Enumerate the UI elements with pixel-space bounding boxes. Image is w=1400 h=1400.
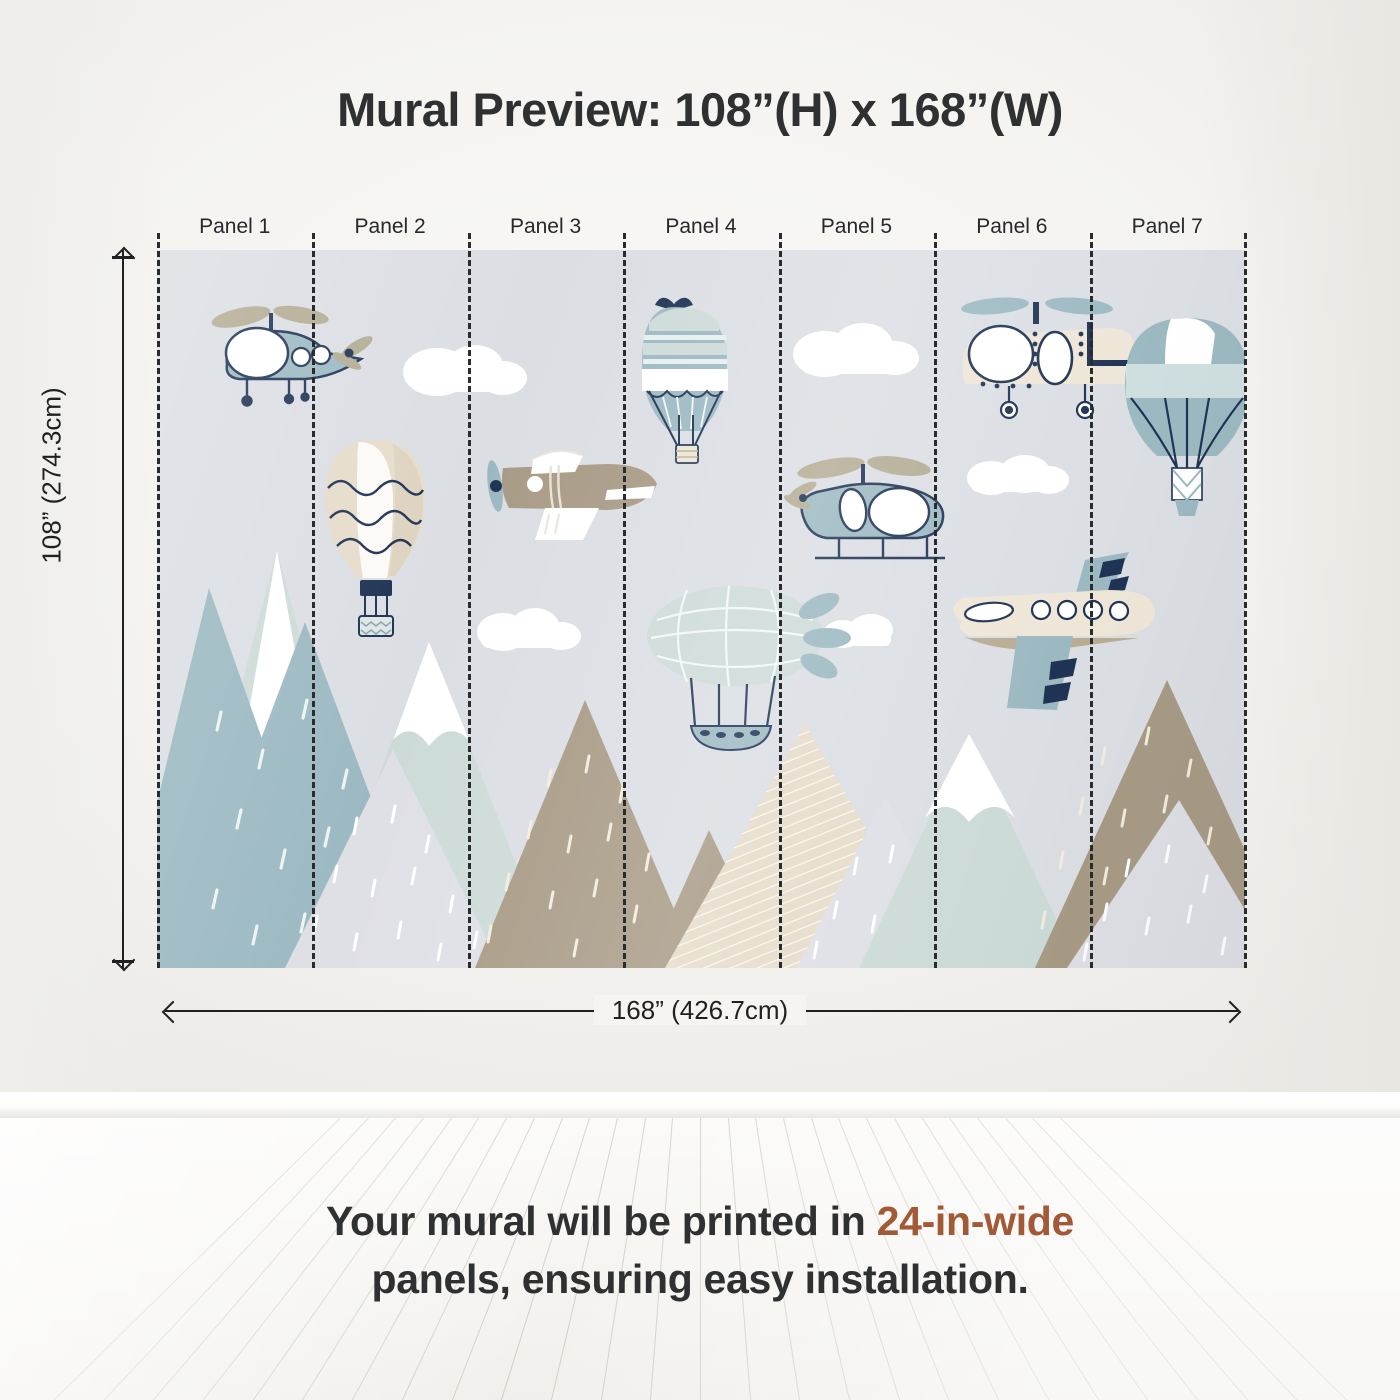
- caption-text-before: Your mural will be printed in: [326, 1198, 877, 1244]
- width-dimension-label: 168” (426.7cm): [0, 995, 1400, 1026]
- panel-label-6: Panel 6: [934, 215, 1089, 245]
- panel-divider-7: [1244, 233, 1247, 968]
- wall-shadow-left: [0, 0, 170, 1098]
- panel-label-4: Panel 4: [623, 215, 778, 245]
- panel-label-row: Panel 1 Panel 2 Panel 3 Panel 4 Panel 5 …: [157, 215, 1245, 245]
- panel-divider-2: [468, 233, 471, 968]
- panel-divider-3: [623, 233, 626, 968]
- panel-label-2: Panel 2: [312, 215, 467, 245]
- panel-divider-6: [1090, 233, 1093, 968]
- width-dimension-text: 168” (426.7cm): [594, 995, 806, 1025]
- panel-label-1: Panel 1: [157, 215, 312, 245]
- panel-divider-5: [934, 233, 937, 968]
- caption-accent-text: 24-in-wide: [877, 1198, 1074, 1244]
- panel-label-7: Panel 7: [1090, 215, 1245, 245]
- caption-line-1: Your mural will be printed in 24-in-wide: [0, 1192, 1400, 1250]
- height-dimension-label: 108” (274.3cm): [37, 376, 68, 576]
- panel-divider-0: [157, 233, 160, 968]
- mural-artwork: [157, 250, 1245, 968]
- print-info-caption: Your mural will be printed in 24-in-wide…: [0, 1192, 1400, 1308]
- mural-preview[interactable]: [157, 250, 1245, 968]
- caption-line-2: panels, ensuring easy installation.: [0, 1250, 1400, 1308]
- height-dimension-arrow: [122, 250, 124, 968]
- baseboard: [0, 1092, 1400, 1118]
- panel-label-3: Panel 3: [468, 215, 623, 245]
- page-title: Mural Preview: 108”(H) x 168”(W): [0, 82, 1400, 137]
- panel-label-5: Panel 5: [779, 215, 934, 245]
- panel-divider-4: [779, 233, 782, 968]
- panel-divider-1: [312, 233, 315, 968]
